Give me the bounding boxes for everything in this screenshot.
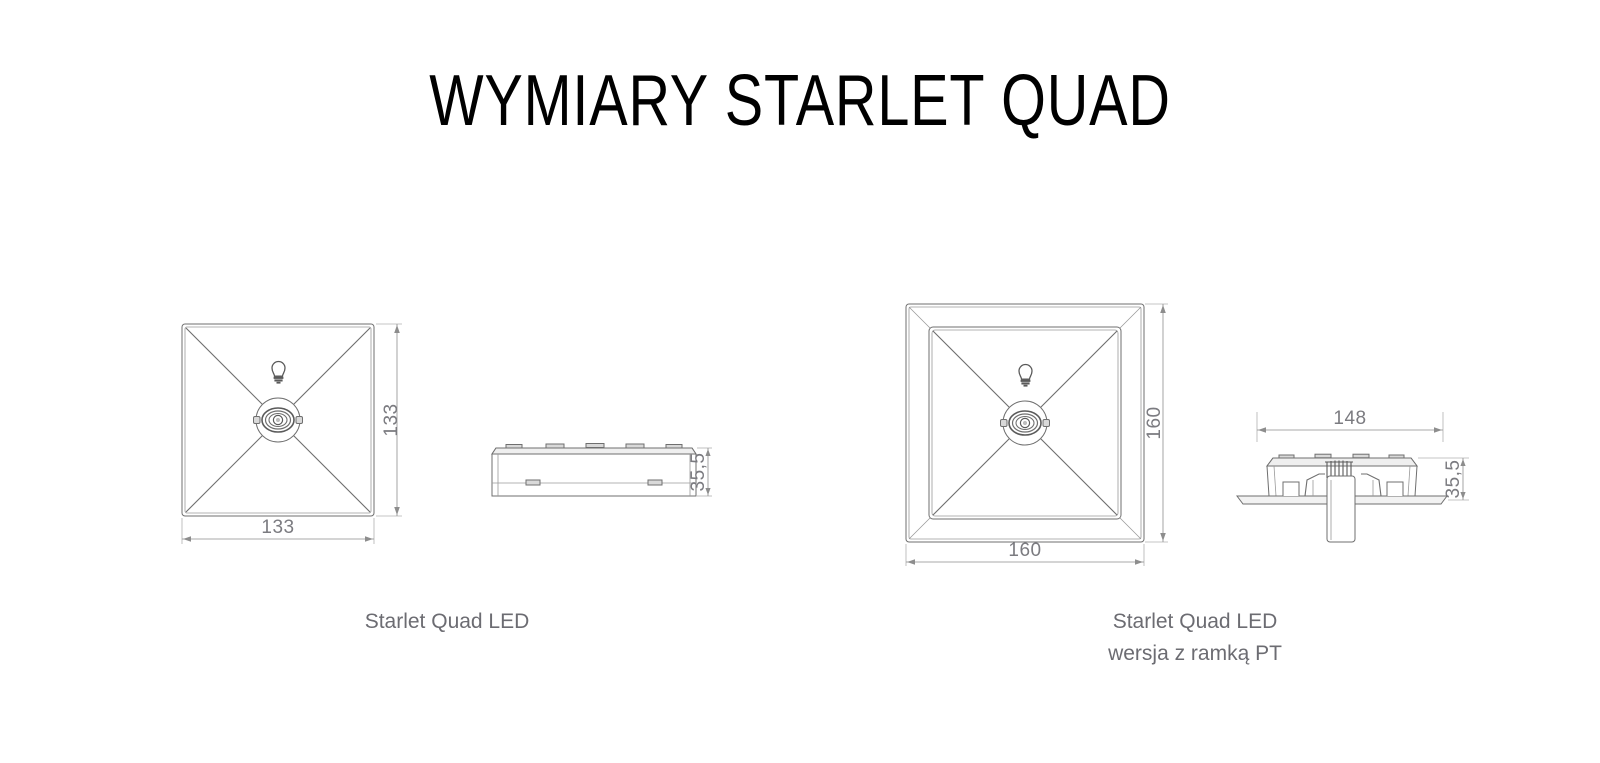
housing-top-bevel <box>492 448 696 454</box>
housing-profile <box>492 448 696 496</box>
figure-left-top-view: 133 133 <box>170 312 415 557</box>
dimension-height-133: 133 <box>376 324 402 516</box>
dimension-width-160: 160 <box>906 540 1144 566</box>
dimension-height-35-5-right: 35,5 <box>1418 458 1469 500</box>
dimension-label-height-right-side: 35,5 <box>1443 460 1464 499</box>
dimension-label-height-left-side: 35,5 <box>688 453 709 492</box>
dimension-height-35-5-left: 35,5 <box>688 448 712 496</box>
figure-right-side-view: 148 <box>1205 392 1480 552</box>
caption-right-line2: wersja z ramką PT <box>1032 638 1358 670</box>
caption-left-figure: Starlet Quad LED <box>287 606 607 638</box>
dimension-label-width-right-side: 148 <box>1333 408 1366 429</box>
dimension-label-width-right: 160 <box>1008 540 1041 561</box>
caption-left-line1: Starlet Quad LED <box>287 606 607 638</box>
dimension-label-height-left: 133 <box>381 403 402 436</box>
dimension-label-height-right: 160 <box>1144 406 1165 439</box>
dimension-width-133: 133 <box>182 517 374 544</box>
caption-right-figure: Starlet Quad LED wersja z ramką PT <box>1032 606 1358 670</box>
drawing-stage: 133 133 <box>0 0 1600 763</box>
figure-left-side-view: 35,5 <box>480 432 720 522</box>
caption-right-line1: Starlet Quad LED <box>1032 606 1358 638</box>
dimension-height-160: 160 <box>1144 304 1168 542</box>
dimension-width-148: 148 <box>1257 408 1443 442</box>
dimension-label-width-left: 133 <box>261 517 294 538</box>
figure-right-top-view: 160 160 <box>892 292 1177 567</box>
